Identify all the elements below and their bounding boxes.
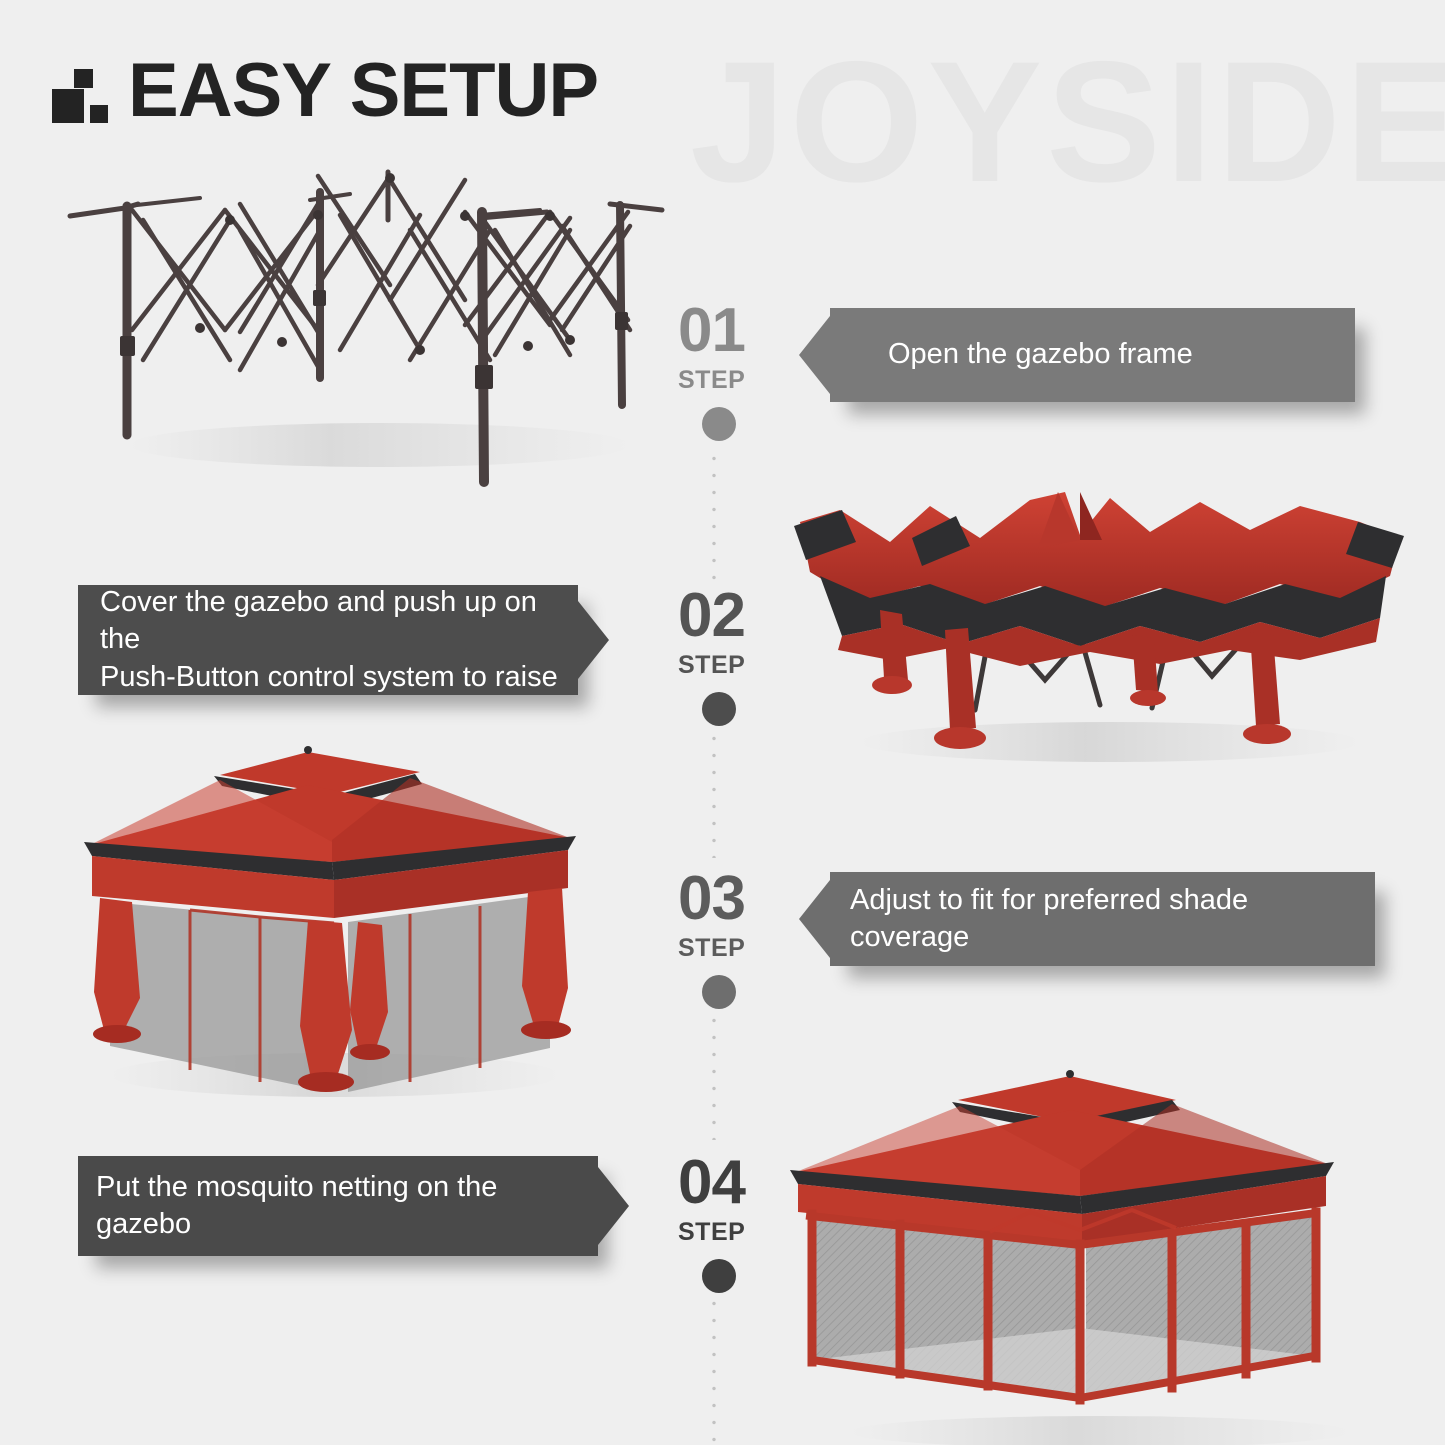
bubble-tail-left-icon <box>799 316 830 394</box>
easy-setup-infographic: JOYSIDE EASY SETUP 01 STEP Open the gaze… <box>0 0 1445 1445</box>
callout-bubble-01: Open the gazebo frame <box>830 308 1355 402</box>
bar-chart-blocks-icon <box>52 69 112 123</box>
callout-text: Open the gazebo frame <box>888 336 1193 373</box>
step-dot <box>702 975 736 1009</box>
step-dot <box>702 1259 736 1293</box>
brand-watermark: JOYSIDE <box>690 36 1445 208</box>
timeline-dots-2 <box>712 730 716 858</box>
product-image-canopy-draped <box>780 480 1420 810</box>
timeline-dots-4 <box>712 1295 716 1445</box>
callout-text: Put the mosquito netting on the gazebo <box>96 1169 598 1243</box>
callout-text-line1: Cover the gazebo and push up on the <box>100 586 537 655</box>
timeline-dots-3 <box>712 1012 716 1140</box>
step-dot <box>702 407 736 441</box>
bubble-tail-left-icon <box>799 880 830 958</box>
page-header: EASY SETUP <box>52 55 598 127</box>
callout-text-line2: Push-Button control system to raise <box>100 661 558 693</box>
bubble-tail-right-icon <box>578 601 609 679</box>
callout-bubble-02: Cover the gazebo and push up on the Push… <box>78 585 578 695</box>
step-dot <box>702 692 736 726</box>
timeline-dots-1 <box>712 450 716 585</box>
callout-bubble-04: Put the mosquito netting on the gazebo <box>78 1156 598 1256</box>
product-image-gazebo-netting <box>780 1060 1420 1445</box>
bubble-tail-right-icon <box>598 1167 629 1245</box>
product-image-gazebo-frame <box>50 160 690 490</box>
callout-bubble-03: Adjust to fit for preferred shade covera… <box>830 872 1375 966</box>
callout-text: Adjust to fit for preferred shade covera… <box>850 882 1375 956</box>
page-title: EASY SETUP <box>128 55 598 127</box>
product-image-gazebo-raised <box>70 730 590 1130</box>
